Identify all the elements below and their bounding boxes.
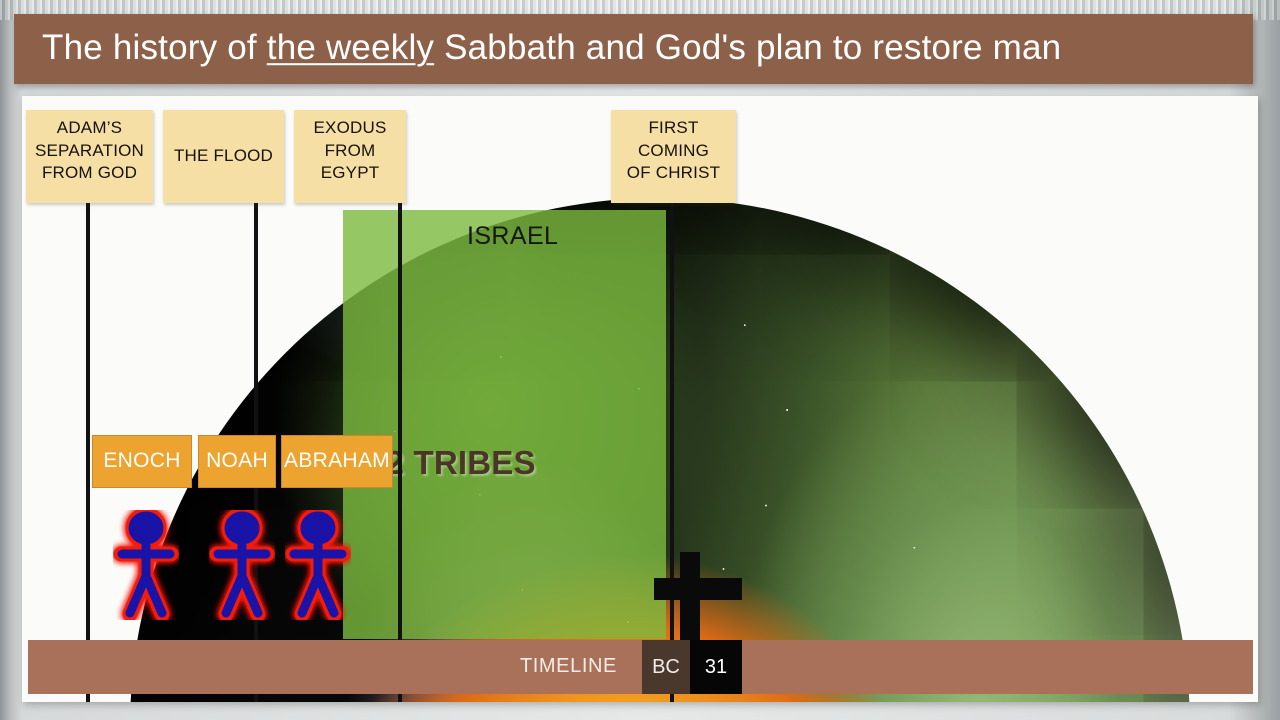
event-box-line: EXODUS [300,117,400,140]
event-box-line: EGYPT [300,162,400,185]
event-box-line: OF CHRIST [617,162,730,185]
person-box-enoch[interactable]: ENOCH [92,435,192,488]
title-suffix: Sabbath and God's plan to restore man [434,28,1061,67]
person-box-abraham[interactable]: ABRAHAM [281,435,393,488]
timeline-year-cell: 31 [690,640,742,694]
title-underlined-phrase: the weekly [267,28,434,67]
person-box-noah[interactable]: NOAH [198,435,276,488]
event-box-first-coming-of-christ[interactable]: FIRST COMING OF CHRIST [611,110,736,203]
event-box-line: FROM [300,140,400,163]
israel-period-block: ISRAEL 12 TRIBES [343,210,666,639]
event-box-line: THE FLOOD [169,145,278,168]
timeline-label: TIMELINE [520,655,617,678]
stickman-figure [113,510,179,620]
event-box-exodus-from-egypt[interactable]: EXODUS FROM EGYPT [294,110,406,203]
israel-label: ISRAEL [467,222,558,251]
timeline-bar: TIMELINE BC 31 [28,640,1253,694]
event-box-line: COMING [617,140,730,163]
title-bar: The history of the weekly Sabbath and Go… [14,14,1253,84]
title-prefix: The history of [42,28,267,67]
event-box-line: FROM GOD [32,162,147,185]
stickman-figure [209,510,275,620]
event-box-adams-separation[interactable]: ADAM’S SEPARATION FROM GOD [26,110,153,203]
event-box-line: SEPARATION [32,140,147,163]
page-title: The history of the weekly Sabbath and Go… [42,28,1061,68]
timeline-era-cell: BC [642,640,690,694]
slide-content-panel: ISRAEL 12 TRIBES ADAM’S SEPARATION FROM … [22,96,1258,702]
stickman-figure [285,510,351,620]
event-box-line: ADAM’S [32,117,147,140]
event-box-line: FIRST [617,117,730,140]
slide: The history of the weekly Sabbath and Go… [0,0,1280,720]
event-box-the-flood[interactable]: THE FLOOD [163,110,284,203]
